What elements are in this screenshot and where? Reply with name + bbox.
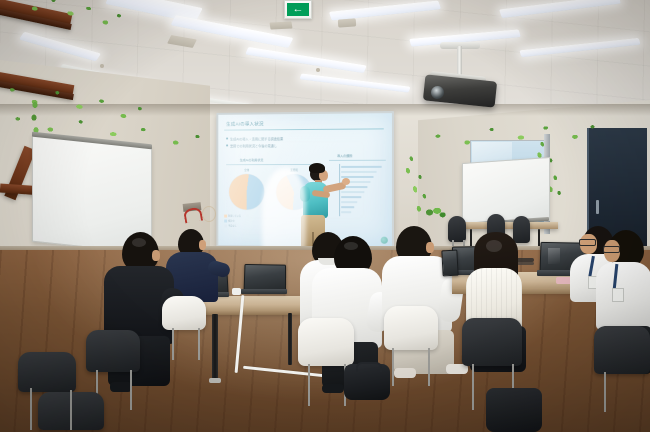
attendee-front-left-ear-skin: [152, 250, 160, 261]
id-badge: [612, 288, 624, 302]
right-whiteboard: [462, 157, 550, 227]
pie-chart-overall: [229, 174, 264, 210]
attendee-center-3-ear-skin: [426, 242, 434, 253]
attendee-back-left-ear-skin: [199, 240, 206, 250]
back-chair[interactable]: [448, 216, 466, 242]
presenter-hair: [309, 163, 325, 173]
slide-legend-item: 検討中: [228, 219, 234, 223]
ceiling-vent: [269, 21, 292, 29]
slide-legend-item: 予定なし: [228, 223, 237, 227]
attendee-center-2-hair-highlight: [344, 242, 358, 250]
glasses-icon: [579, 239, 596, 246]
chair-leg: [130, 370, 132, 410]
laptop-screen[interactable]: [441, 250, 458, 277]
chair-leg: [428, 348, 430, 386]
attendee-woman-hair-highlight: [486, 240, 502, 252]
exit-sign-green-panel: ←: [287, 3, 309, 16]
chair-leg: [30, 388, 32, 430]
chair-center-1[interactable]: [298, 318, 354, 366]
left-table-leg: [212, 314, 218, 380]
legend-swatch: [224, 215, 226, 217]
backpack-strap: [356, 362, 382, 372]
chair-leg: [604, 372, 606, 412]
door-handle[interactable]: [596, 200, 599, 214]
slide-bullet-marker: [226, 144, 228, 146]
back-table: [452, 222, 558, 229]
pie-chart-caption: 全体: [228, 168, 265, 172]
exit-arrow-icon: ←: [293, 4, 304, 15]
attendee-front-left-hair-highlight: [132, 238, 146, 247]
chair-leg: [198, 328, 200, 360]
slide-left-section-label: 生成AIの利用状況: [240, 158, 263, 162]
wall-poster: [202, 206, 216, 222]
power-adapter: [232, 288, 241, 295]
bar-chart-bar: [341, 191, 364, 193]
bag-on-floor[interactable]: [486, 388, 542, 432]
potted-plant-right: [424, 206, 446, 222]
ceiling-speaker: [338, 18, 357, 27]
back-chair[interactable]: [513, 216, 530, 243]
sprinkler-head: [100, 64, 104, 68]
chair-right-front[interactable]: [594, 326, 650, 374]
slide-bullet: 業務での利用状況と今後の見通し: [230, 143, 378, 149]
laptop-screen-glare: [548, 248, 560, 264]
slide-title: 生成AIの導入状況: [226, 120, 382, 127]
chair-woman[interactable]: [462, 318, 522, 366]
chair-leg: [172, 328, 174, 360]
slide-bullet: 生成AIの導入・活用に関する調査結果: [230, 136, 378, 142]
bar-chart-bar: [341, 201, 357, 203]
bar-chart-bar: [341, 211, 351, 213]
chair-leg: [70, 390, 72, 430]
slide-right-section-label: 導入の課題: [337, 154, 352, 158]
slide-title-underline: [224, 128, 384, 130]
chair-center-2[interactable]: [384, 306, 438, 350]
chair-leg: [472, 364, 474, 410]
attendee-front-left-shoe: [110, 382, 132, 392]
bar-chart-bar: [341, 196, 361, 198]
bar-chart-bar: [341, 206, 354, 208]
attendee-center-2-shoe: [322, 384, 344, 393]
seminar-room-photo: ← 非常口: [0, 0, 650, 432]
presenter-hand: [342, 178, 350, 185]
presenter-shadow-on-screen: [262, 168, 306, 254]
bar-chart-bar: [341, 171, 376, 173]
emergency-exit-sign: ←: [284, 0, 312, 19]
slide-logo: [381, 237, 388, 244]
stacked-chair[interactable]: [18, 352, 76, 392]
glasses-icon: [603, 246, 620, 253]
chair-back-left[interactable]: [162, 296, 206, 330]
slide-bullet-marker: [226, 137, 228, 139]
chair-leg: [392, 348, 394, 386]
chair-leg: [308, 364, 310, 406]
chair-front-left[interactable]: [86, 330, 140, 372]
laptop-base[interactable]: [241, 289, 287, 294]
left-table-leg-foot: [209, 378, 221, 383]
slide-left-panel-rule: [226, 164, 323, 165]
slide-legend-item: 利用している: [228, 214, 241, 218]
left-table-leg: [288, 313, 292, 365]
legend-swatch: [224, 224, 226, 226]
sprinkler-head: [316, 68, 320, 72]
bar-chart-bar: [341, 166, 382, 168]
legend-swatch: [224, 220, 226, 222]
attendee-center-3-shoe: [394, 368, 416, 378]
slide-right-panel-rule: [329, 160, 386, 161]
